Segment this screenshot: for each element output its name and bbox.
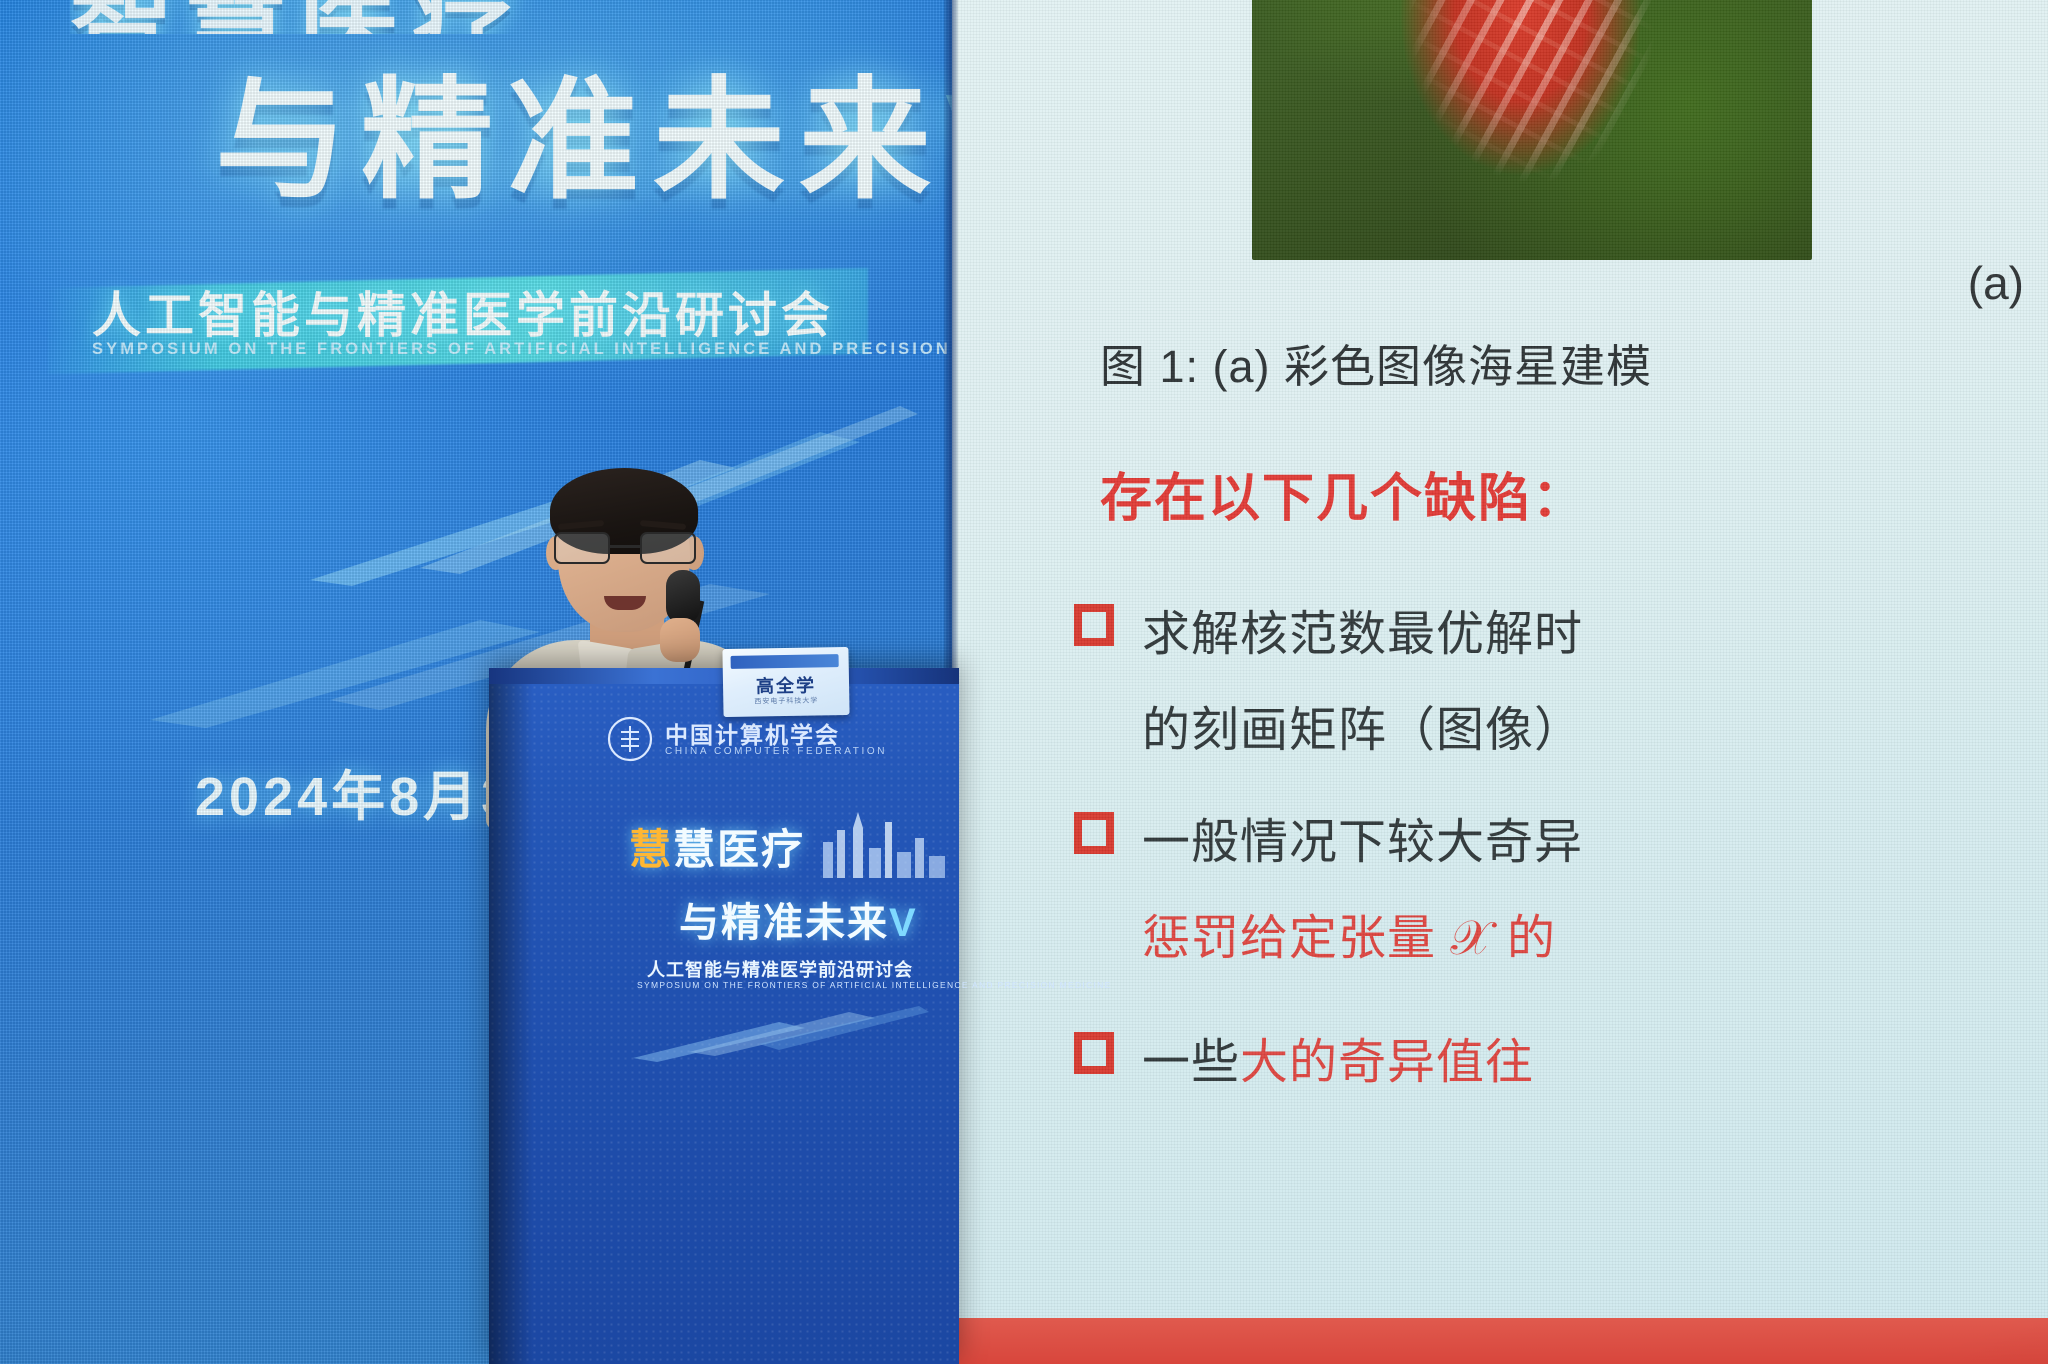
square-bullet-icon — [1074, 812, 1114, 854]
bullet-item-2: 一般情况下较大奇异 — [1074, 802, 2048, 872]
podium-swoosh-decoration — [629, 1004, 929, 1064]
podium-title-line-2: 与精准未来V — [679, 890, 999, 948]
ccf-logo-icon — [607, 716, 653, 762]
bullet-2-line-2: 惩罚给定张量 𝒳 的 — [1142, 898, 1556, 968]
slide-bottom-red-bar — [952, 1318, 2048, 1364]
lens-right — [640, 532, 696, 564]
ccf-logo-chinese: 中国计算机学会 — [665, 716, 840, 750]
right-slide-screen: (a) 图 1: (a) 彩色图像海星建模 存在以下几个缺陷： 求解核范数最优解… — [952, 0, 2048, 1364]
lens-left — [554, 532, 610, 564]
nameplate-affiliation: 西安电子科技大学 — [723, 695, 849, 707]
subtitle-chinese: 人工智能与精准医学前沿研讨会 — [92, 276, 882, 347]
podium-title-rest: 慧医疗 — [673, 826, 805, 873]
square-bullet-icon — [1074, 604, 1114, 646]
bullet-2-line-2-text: 惩罚给定张量 𝒳 的 — [1142, 912, 1556, 965]
nameplate-header-bar — [731, 654, 839, 669]
podium-subtitle-english: SYMPOSIUM ON THE FRONTIERS OF ARTIFICIAL… — [637, 980, 977, 990]
subtitle-english: SYMPOSIUM ON THE FRONTIERS OF ARTIFICIAL… — [92, 340, 892, 359]
headline-top-cropped: 智慧医疗 — [70, 0, 940, 34]
speaker-hand — [660, 618, 700, 662]
bullet-3-red-text: 大的奇异值往 — [1240, 1036, 1534, 1089]
bullet-item-1: 求解核范数最优解时 — [1074, 594, 2048, 664]
bullet-3-dark-text: 一些 — [1142, 1036, 1240, 1089]
podium-subtitle-chinese: 人工智能与精准医学前沿研讨会 — [647, 956, 947, 982]
bullet-item-3: 一些大的奇异值往 — [1074, 1022, 2048, 1092]
bullet-3-line-1: 一些大的奇异值往 — [1142, 1022, 1534, 1092]
bullet-1-line-2: 的刻画矩阵（图像） — [1142, 690, 1583, 760]
podium: 中国计算机学会 CHINA COMPUTER FEDERATION 慧慧医疗 与… — [489, 668, 959, 1364]
bullet-2-line-1: 一般情况下较大奇异 — [1142, 802, 1583, 872]
bullet-1-line-1: 求解核范数最优解时 — [1142, 594, 1583, 664]
skyline-icon — [819, 808, 949, 878]
ccf-logo-english: CHINA COMPUTER FEDERATION — [665, 746, 887, 757]
figure-sublabel: (a) — [1968, 256, 2024, 310]
headline-main: 与精准未来V — [215, 75, 952, 207]
eyeglasses-icon — [552, 532, 698, 566]
podium-title2-text: 与精准未来 — [679, 901, 889, 945]
microphone-icon — [666, 570, 700, 624]
figure-caption: 图 1: (a) 彩色图像海星建模 — [1100, 330, 2048, 395]
slide-red-heading: 存在以下几个缺陷： — [1100, 456, 1586, 531]
headline-main-text: 与精准未来 — [215, 67, 945, 214]
speaker-nameplate: 高全学 西安电子科技大学 — [722, 647, 849, 717]
presentation-scene: 智慧医疗 与精准未来V 人工智能与精准医学前沿研讨会 SYMPOSIUM ON … — [0, 0, 2048, 1364]
podium-title2-accent: V — [889, 901, 918, 945]
square-bullet-icon — [1074, 1032, 1114, 1074]
starfish-texture-overlay — [1252, 0, 1812, 260]
podium-title-highlight: 慧 — [629, 826, 673, 873]
podium-shadow — [489, 684, 533, 1364]
glasses-bridge — [610, 545, 640, 548]
